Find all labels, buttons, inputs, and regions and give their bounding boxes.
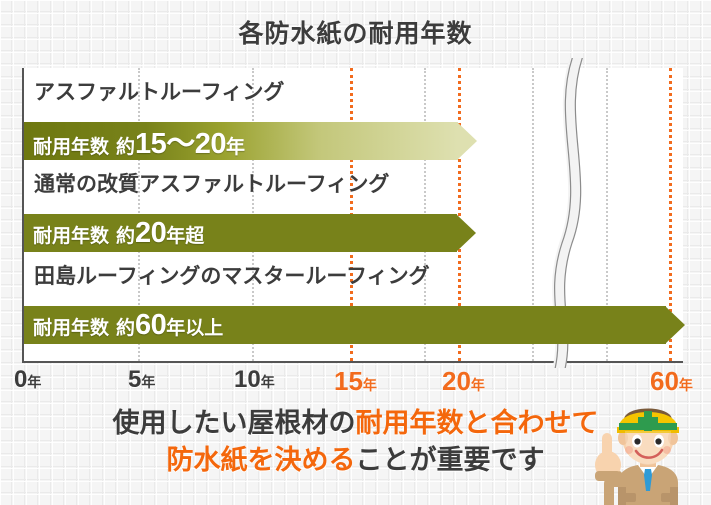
page-title: 各防水紙の耐用年数 — [0, 14, 711, 50]
xtick-20y: 20年 — [442, 366, 485, 397]
bar-approx-2: 約 — [116, 226, 135, 247]
bar-approx-1: 約 — [116, 137, 135, 158]
bar-approx-3: 約 — [116, 318, 135, 339]
bar-arrow-tip-3 — [665, 306, 685, 344]
infographic-root: 各防水紙の耐用年数 アスファルトルーフィング — [0, 0, 711, 505]
chart-plot-area: アスファルトルーフィング 耐用年数約15～20年 通常の改質アスファルトルーフィ… — [22, 68, 683, 363]
xtick-0y-number: 0 — [14, 366, 27, 393]
bar-metric-2: 耐用年数 — [33, 226, 109, 247]
caption-line1-plain: 使用したい屋根材の — [113, 408, 356, 438]
mascot-worker-illustration — [566, 383, 711, 505]
xtick-0y-unit: 年 — [27, 374, 41, 390]
row-label-2: 通常の改質アスファルトルーフィング — [34, 168, 389, 198]
bar-asphalt-roofing[interactable]: 耐用年数約15～20年 — [24, 122, 477, 160]
chart-row-1: アスファルトルーフィング 耐用年数約15～20年 — [24, 76, 683, 166]
bar-value-label-3: 耐用年数約60年以上 — [24, 309, 223, 342]
xtick-10y-number: 10 — [234, 366, 261, 393]
bar-modified-asphalt-roofing[interactable]: 耐用年数約20年超 — [24, 214, 476, 252]
xtick-15y: 15年 — [334, 366, 377, 397]
bar-number-1: 15～20 — [135, 128, 226, 160]
chart-row-2: 通常の改質アスファルトルーフィング 耐用年数約20年超 — [24, 168, 683, 258]
chart-plot-clip: アスファルトルーフィング 耐用年数約15～20年 通常の改質アスファルトルーフィ… — [24, 68, 683, 361]
xtick-5y-unit: 年 — [141, 374, 155, 390]
xtick-0y: 0年 — [14, 366, 41, 394]
bar-master-roofing[interactable]: 耐用年数約60年以上 — [24, 306, 685, 344]
caption-line2-plain: ことが重要です — [356, 445, 545, 475]
bar-number-3: 60 — [135, 309, 166, 341]
bar-metric-3: 耐用年数 — [33, 318, 109, 339]
row-label-3: 田島ルーフィングのマスタールーフィング — [34, 260, 430, 290]
xtick-10y: 10年 — [234, 366, 275, 394]
bar-number-2: 20 — [135, 217, 166, 249]
row-label-1: アスファルトルーフィング — [34, 76, 284, 106]
bar-unit-3: 年以上 — [166, 318, 223, 339]
bar-value-label-1: 耐用年数約15～20年 — [24, 120, 245, 162]
bar-unit-2: 年超 — [166, 226, 204, 247]
xtick-10y-unit: 年 — [261, 374, 275, 390]
bar-metric-1: 耐用年数 — [33, 137, 109, 158]
xtick-20y-unit: 年 — [471, 377, 485, 393]
xtick-5y: 5年 — [128, 366, 155, 394]
xtick-15y-number: 15 — [334, 366, 363, 396]
bar-arrow-tip-1 — [457, 122, 477, 160]
bar-arrow-tip-2 — [456, 214, 476, 252]
chart-row-3: 田島ルーフィングのマスタールーフィング 耐用年数約60年以上 — [24, 260, 683, 350]
xtick-15y-unit: 年 — [363, 377, 377, 393]
caption-line2-highlight: 防水紙を決める — [167, 445, 356, 475]
caption-line1-highlight: 耐用年数と合わせて — [356, 408, 599, 438]
xtick-20y-number: 20 — [442, 366, 471, 396]
bar-unit-1: 年 — [226, 137, 245, 158]
bar-value-label-2: 耐用年数約20年超 — [24, 217, 204, 250]
xtick-5y-number: 5 — [128, 366, 141, 393]
